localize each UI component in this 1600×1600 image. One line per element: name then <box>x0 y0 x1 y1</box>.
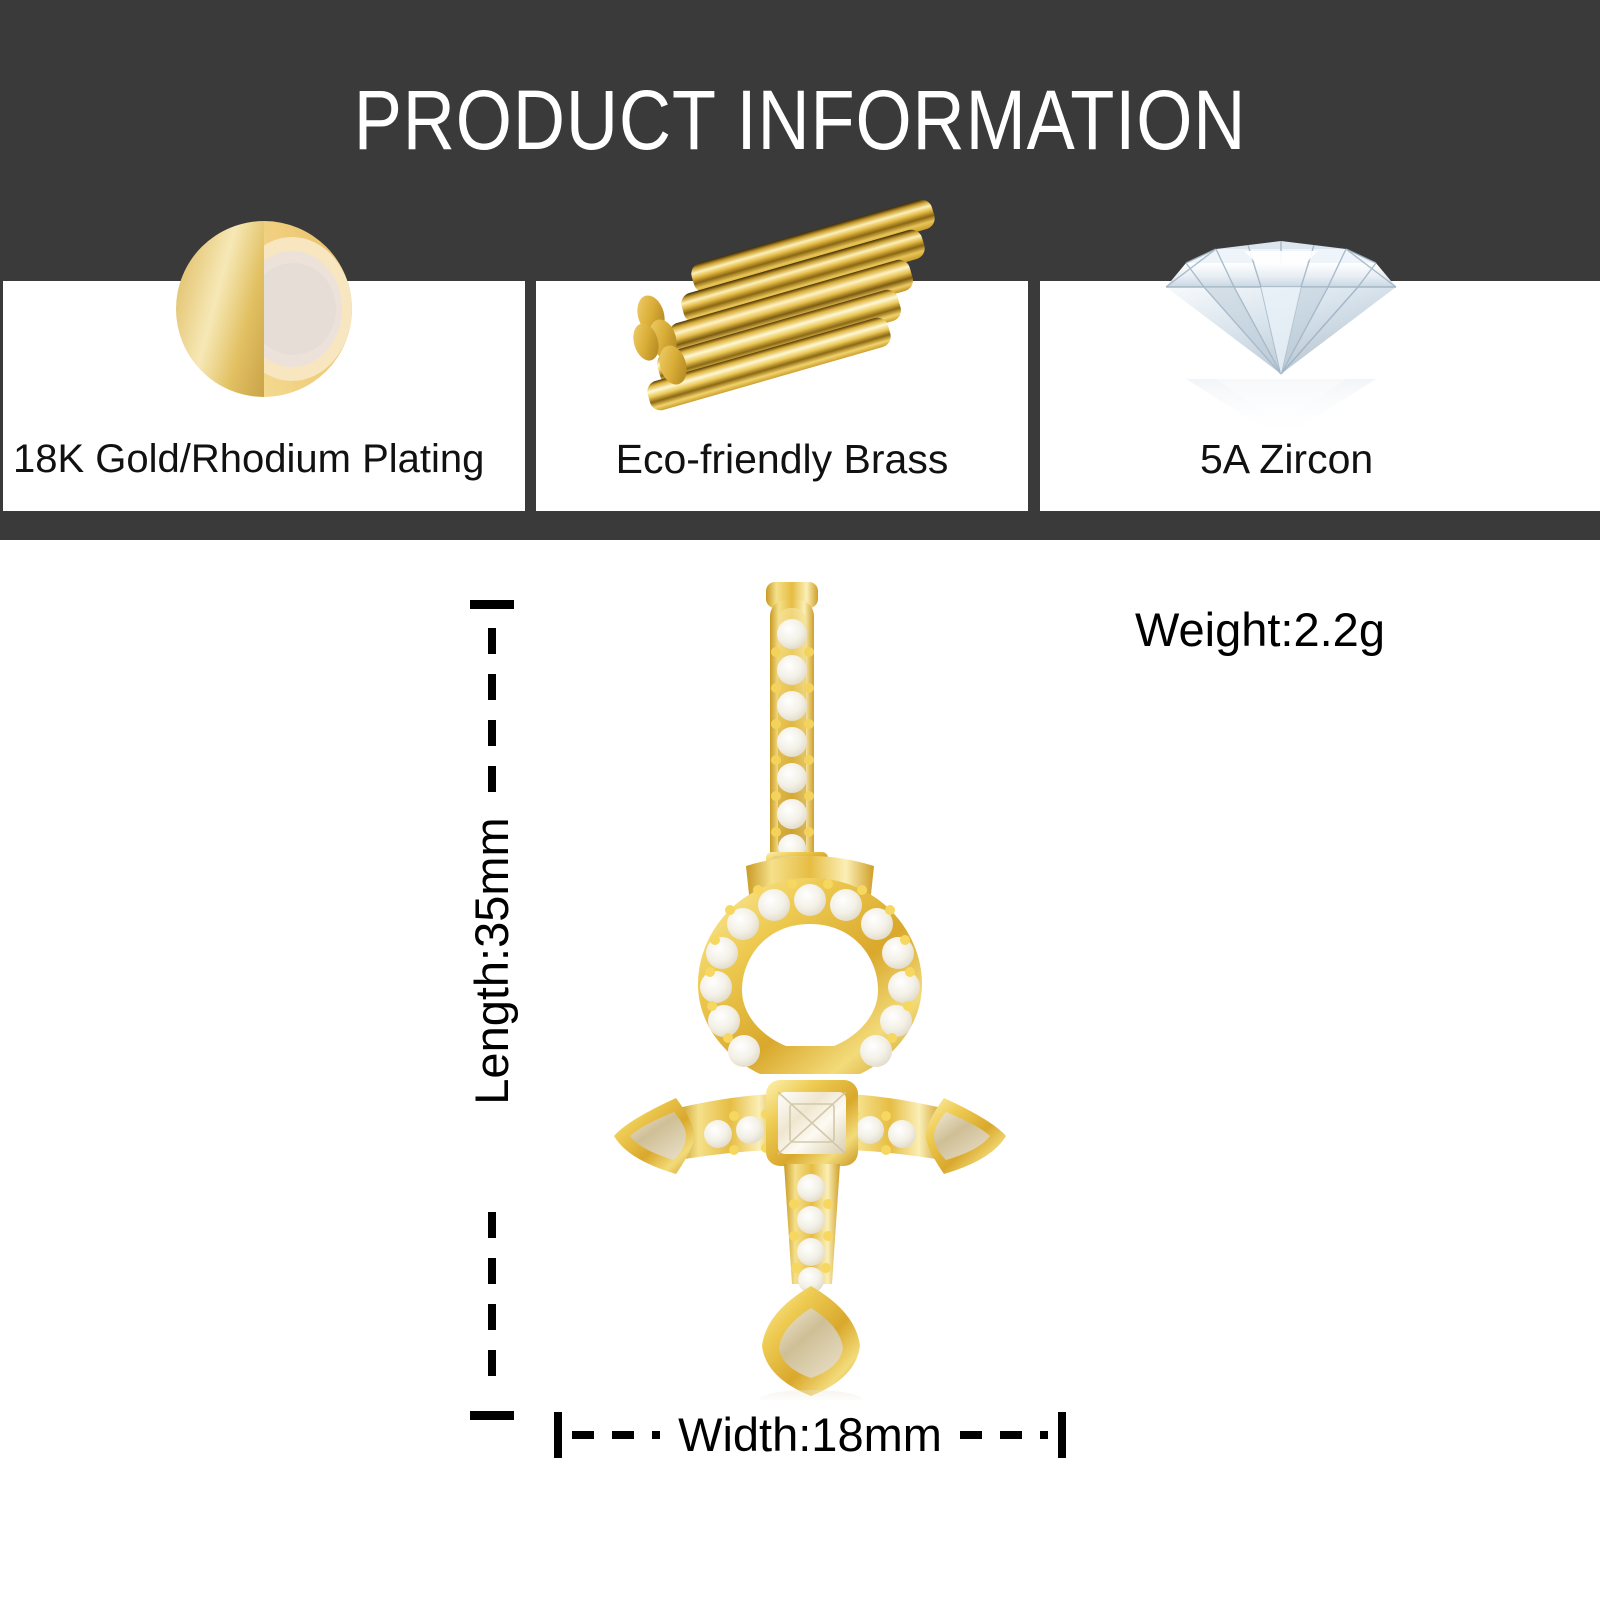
ankh-pendant-svg <box>570 560 1050 1400</box>
length-dimension-line: Length:35mm <box>452 600 532 1420</box>
gold-rhodium-sphere-icon <box>176 221 352 397</box>
width-dashes-left <box>572 1431 660 1439</box>
feature-card-plating: 18K Gold/Rhodium Plating <box>3 281 525 511</box>
feature-card-brass: Eco-friendly Brass <box>536 281 1028 511</box>
length-cap-top <box>470 600 514 609</box>
ankh-shaft <box>784 1164 840 1293</box>
weight-label: Weight:2.2g <box>1135 602 1385 658</box>
width-label: Width:18mm <box>670 1409 950 1461</box>
diamond-gem-svg <box>1156 219 1406 449</box>
width-cap-right <box>1058 1412 1066 1458</box>
width-dimension-line: Width:18mm <box>540 1400 1080 1470</box>
length-dashes-lower <box>488 1212 496 1392</box>
page-title: PRODUCT INFORMATION <box>112 78 1488 162</box>
diamond-gem-icon <box>1156 219 1406 449</box>
bottom-pear-stone <box>762 1286 860 1396</box>
ankh-cross-pendant-image <box>570 560 1050 1400</box>
feature-card-plating-label: 18K Gold/Rhodium Plating <box>3 435 515 483</box>
sphere-gold-half <box>176 221 264 397</box>
length-label: Length:35mm <box>466 731 518 1191</box>
ankh-loop <box>698 856 922 1074</box>
feature-card-zircon: 5A Zircon <box>1040 281 1600 511</box>
sphere-rhodium-half <box>264 221 352 397</box>
brass-rods-icon <box>632 207 932 407</box>
center-stone <box>766 1080 858 1166</box>
product-image-area: Length:35mm Weight:2.2g <box>0 540 1600 1600</box>
feature-card-brass-label: Eco-friendly Brass <box>536 435 1028 483</box>
feature-card-zircon-label: 5A Zircon <box>1040 435 1600 483</box>
width-dashes-right <box>960 1431 1048 1439</box>
length-cap-bottom <box>470 1411 514 1420</box>
width-cap-left <box>554 1412 562 1458</box>
pendant-bail <box>766 582 828 874</box>
